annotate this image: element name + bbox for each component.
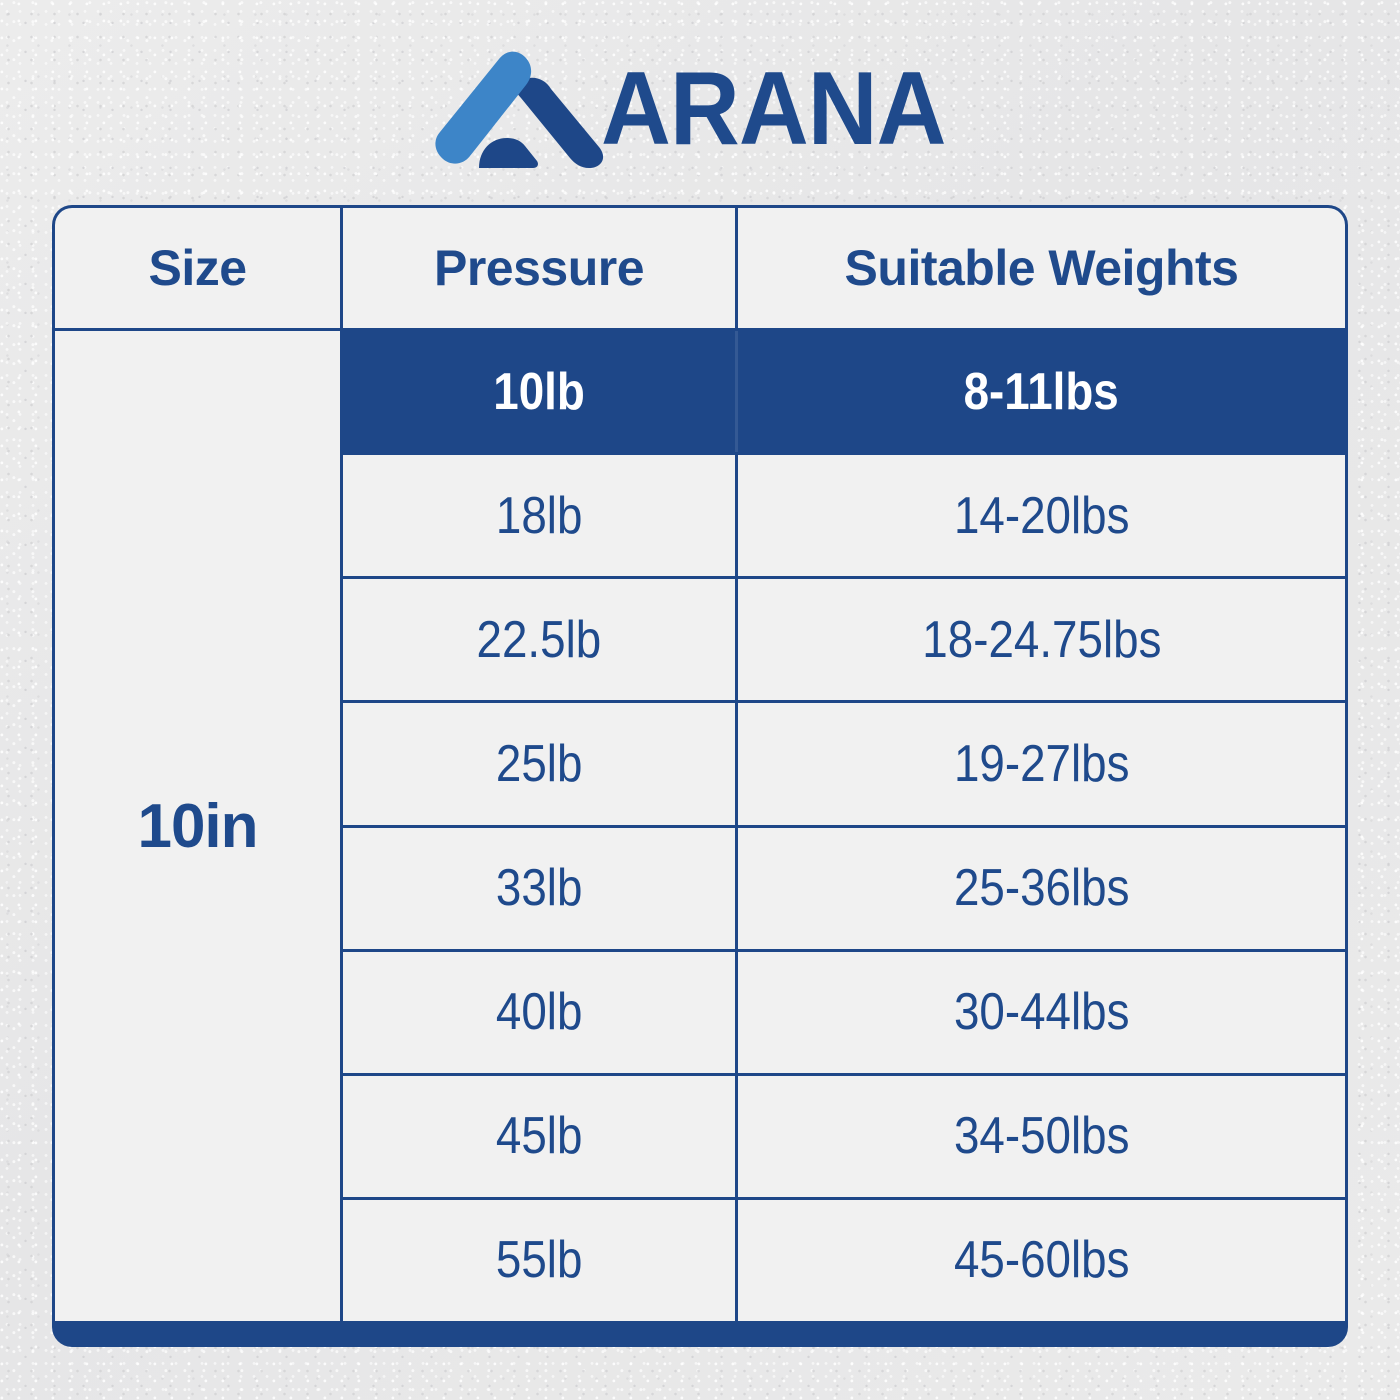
cell-pressure: 22.5lb: [343, 579, 735, 700]
brand-wordmark: ARANA: [601, 57, 946, 161]
table-row[interactable]: 33lb 25-36lbs: [343, 828, 1345, 952]
cell-pressure-text: 10lb: [493, 362, 585, 422]
cell-suitable-weights: 8-11lbs: [735, 331, 1345, 452]
table-header-row: Size Pressure Suitable Weights: [55, 208, 1345, 331]
cell-suitable-weights-text: 34-50lbs: [954, 1106, 1130, 1166]
table-row[interactable]: 40lb 30-44lbs: [343, 952, 1345, 1076]
cell-suitable-weights-text: 30-44lbs: [954, 982, 1130, 1042]
cell-pressure-text: 18lb: [496, 486, 583, 546]
cell-suitable-weights: 25-36lbs: [735, 828, 1345, 949]
cell-pressure-text: 25lb: [496, 734, 583, 794]
cell-suitable-weights: 14-20lbs: [735, 455, 1345, 576]
cell-suitable-weights-text: 45-60lbs: [954, 1230, 1130, 1290]
cell-pressure-text: 33lb: [496, 858, 583, 918]
column-header-pressure: Pressure: [340, 208, 735, 328]
cell-suitable-weights-text: 25-36lbs: [954, 858, 1130, 918]
table-body: 10in 10lb 8-11lbs 18lb 14-20lbs 22.5lb 1…: [55, 331, 1345, 1321]
cell-pressure: 55lb: [343, 1200, 735, 1321]
cell-suitable-weights-text: 18-24.75lbs: [922, 610, 1161, 670]
table-row[interactable]: 25lb 19-27lbs: [343, 703, 1345, 827]
cell-pressure-text: 45lb: [496, 1106, 583, 1166]
table-row[interactable]: 45lb 34-50lbs: [343, 1076, 1345, 1200]
cell-suitable-weights: 30-44lbs: [735, 952, 1345, 1073]
cell-suitable-weights: 18-24.75lbs: [735, 579, 1345, 700]
cell-pressure: 10lb: [343, 331, 735, 452]
pressure-weight-spec-table: Size Pressure Suitable Weights 10in 10lb…: [52, 205, 1348, 1347]
table-row[interactable]: 18lb 14-20lbs: [343, 455, 1345, 579]
cell-pressure-text: 40lb: [496, 982, 583, 1042]
cell-pressure: 33lb: [343, 828, 735, 949]
cell-suitable-weights-text: 14-20lbs: [954, 486, 1130, 546]
size-value: 10in: [137, 791, 257, 862]
cell-suitable-weights-text: 8-11lbs: [964, 362, 1119, 422]
cell-pressure: 40lb: [343, 952, 735, 1073]
cell-pressure-text: 55lb: [496, 1230, 583, 1290]
cell-pressure: 18lb: [343, 455, 735, 576]
cell-suitable-weights: 19-27lbs: [735, 703, 1345, 824]
column-header-suitable-weights: Suitable Weights: [735, 208, 1345, 328]
table-row[interactable]: 55lb 45-60lbs: [343, 1200, 1345, 1321]
cell-suitable-weights-text: 19-27lbs: [954, 734, 1130, 794]
cell-suitable-weights: 34-50lbs: [735, 1076, 1345, 1197]
table-row[interactable]: 22.5lb 18-24.75lbs: [343, 579, 1345, 703]
brand-header: ARANA: [0, 44, 1400, 174]
table-row[interactable]: 10lb 8-11lbs: [343, 331, 1345, 455]
arana-a-logo-icon: [429, 50, 609, 168]
size-merged-cell: 10in: [55, 331, 340, 1321]
column-header-size: Size: [55, 208, 340, 328]
table-rows-area: 10lb 8-11lbs 18lb 14-20lbs 22.5lb 18-24.…: [340, 331, 1345, 1321]
cell-pressure: 45lb: [343, 1076, 735, 1197]
cell-pressure-text: 22.5lb: [477, 610, 602, 670]
cell-pressure: 25lb: [343, 703, 735, 824]
cell-suitable-weights: 45-60lbs: [735, 1200, 1345, 1321]
